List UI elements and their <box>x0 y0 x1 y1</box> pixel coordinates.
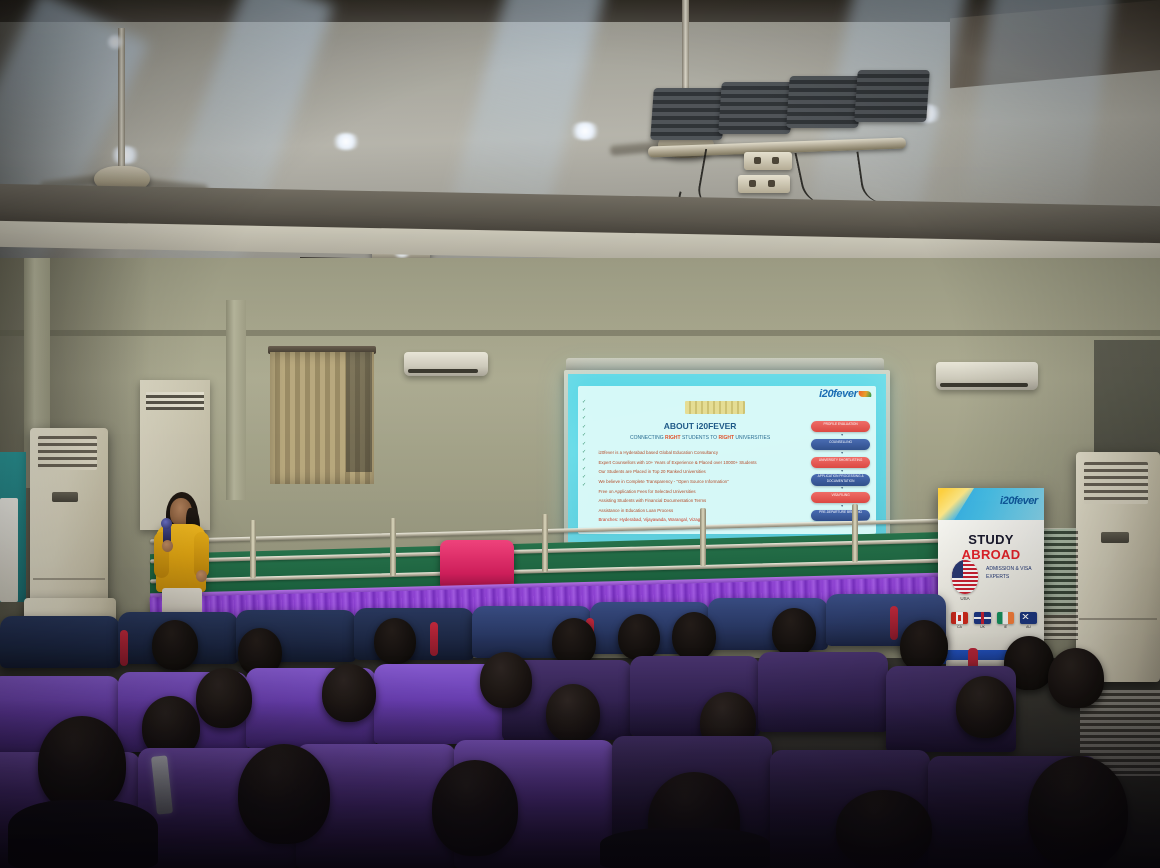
slide-flow-step: VISA FILING <box>811 492 871 503</box>
flow-arrow-icon: ▼ <box>835 451 850 455</box>
ceiling-acoustic-panel <box>786 76 862 128</box>
speaker-hand-right <box>196 570 207 582</box>
wall-ac-unit <box>404 352 488 376</box>
window-frame-right <box>1094 340 1160 460</box>
subtitle-highlight-1: RIGHT <box>665 435 681 441</box>
swoosh-icon <box>857 391 873 397</box>
lighting-junction-box <box>744 152 792 170</box>
ac-control-panel <box>52 492 78 502</box>
ac-seam <box>33 578 105 580</box>
ceiling-shadow-left <box>0 0 120 300</box>
slide-bullet: i20fever is a Hyderabad based Global Edu… <box>598 450 718 455</box>
slide-bullet: Branches: Hyderabad, Vijayawada, Waranga… <box>598 517 700 522</box>
slide-tick-column: ✓✓✓✓✓✓✓✓✓✓✓ <box>582 398 586 490</box>
microphone-head <box>161 518 172 529</box>
ac-grille <box>1084 462 1148 504</box>
ceiling-light <box>568 122 602 140</box>
slide-bullet: Free on Application Fees for Selected Un… <box>598 489 695 494</box>
wall-trim-line <box>0 330 1160 336</box>
flag-canada-label: CA <box>950 625 969 629</box>
flag-usa-icon <box>952 560 978 594</box>
flag-australia-icon <box>1020 612 1037 624</box>
audience-head <box>374 618 416 664</box>
banner-title-word-study: STUDY <box>968 532 1014 547</box>
audience-head <box>672 612 716 660</box>
slide-content: i20fever ABOUT i20FEVER CONNECTING RIGHT… <box>578 386 877 534</box>
flag-uk-icon <box>974 612 991 624</box>
tower-ac-right <box>1076 452 1160 682</box>
ac-control-panel <box>1101 532 1129 543</box>
ac-seam <box>1079 618 1156 620</box>
banner-subtitle: ADMISSION & VISA EXPERTS <box>986 566 1040 581</box>
seat-red-trim <box>890 606 898 640</box>
seat-red-trim <box>430 622 438 656</box>
slide-bullet: Our Students are Placed in Top 20 Ranked… <box>598 469 705 474</box>
audience-head <box>552 618 596 666</box>
slide-logo: i20fever <box>819 388 872 400</box>
banner-title: STUDY ABROAD <box>938 532 1044 562</box>
banner-header-accent <box>938 488 974 520</box>
ceiling-acoustic-panel <box>718 82 794 134</box>
cabinet-vent <box>146 392 204 410</box>
speaker-hand-mic <box>162 540 173 552</box>
banner-sub-line2: & VISA <box>1015 566 1031 572</box>
audience-head <box>152 620 198 670</box>
subtitle-highlight-2: RIGHT <box>718 435 734 441</box>
slide-bullet: Assisting Students with Financial Docume… <box>598 498 706 503</box>
slide-grid-decoration <box>685 401 745 414</box>
ac-grille <box>38 436 97 470</box>
slide-flow-step: PRE-DEPARTURE BRIEFING <box>811 510 871 521</box>
slide-flow-step: APPLICATION PROCESSING & DOCUMENTATION <box>811 474 871 485</box>
flag-usa-label: USA <box>952 596 978 601</box>
flow-arrow-icon: ▼ <box>835 433 850 437</box>
slide-bullet: We believe in Complete Transparency - "O… <box>598 479 728 484</box>
flow-arrow-icon: ▼ <box>835 469 850 473</box>
audience-head <box>772 608 816 656</box>
ceiling-acoustic-panel <box>854 70 930 122</box>
stage-railing-post <box>250 520 256 578</box>
banner-title-word-abroad: ABROAD <box>962 547 1021 562</box>
window-glass <box>346 352 372 472</box>
stage-railing-post <box>852 504 858 562</box>
projection-screen: i20fever ABOUT i20FEVER CONNECTING RIGHT… <box>568 374 886 542</box>
flag-australia-label: AU <box>1019 625 1038 629</box>
seat-row-far <box>0 616 120 668</box>
slide-bullet: Expert Counsellors with 10+ Years of Exp… <box>598 460 756 465</box>
lighting-junction-box <box>738 175 790 193</box>
flag-ireland-label: IE <box>996 625 1015 629</box>
banner-logo: i20fever <box>1000 495 1038 507</box>
stage-railing-post <box>700 508 706 566</box>
flow-arrow-icon: ▼ <box>835 504 850 508</box>
side-poster-white <box>0 498 18 602</box>
audience-head <box>1048 648 1104 708</box>
flow-arrow-icon: ▼ <box>835 486 850 490</box>
auditorium-photo: i20fever ABOUT i20FEVER CONNECTING RIGHT… <box>0 0 1160 868</box>
wall-pillar <box>226 300 246 500</box>
slide-title: ABOUT i20FEVER <box>601 421 798 431</box>
audience-head <box>900 620 948 672</box>
subtitle-post: UNIVERSITIES <box>734 435 770 441</box>
slide-bullet: Assistance in Education Loan Process <box>598 508 673 513</box>
slide-flow-step: UNIVERSITY SHORTLISTING <box>811 457 871 468</box>
seat-red-trim <box>120 630 128 666</box>
flag-canada-icon <box>951 612 968 624</box>
ceiling-light <box>330 133 362 150</box>
slide-flow-step: PROFILE EVALUATION <box>811 421 871 432</box>
stage-railing-post <box>390 518 396 576</box>
pink-chair <box>440 540 514 588</box>
ceiling-acoustic-panel <box>650 88 726 140</box>
banner-sub-line1: ADMISSION <box>986 566 1014 572</box>
ceiling-light <box>108 146 142 164</box>
slide-subtitle: CONNECTING RIGHT STUDENTS TO RIGHT UNIVE… <box>592 435 807 441</box>
wall-ac-unit <box>936 362 1038 390</box>
stage-railing-post <box>542 514 548 572</box>
flag-uk-label: UK <box>973 625 992 629</box>
banner-sub-line3: EXPERTS <box>986 574 1009 580</box>
subtitle-mid: STUDENTS TO <box>681 435 719 441</box>
slide-flow-step: COUNSELLING <box>811 439 871 450</box>
ceiling-fan-light <box>106 34 124 50</box>
subtitle-pre: CONNECTING <box>630 435 665 441</box>
slide-logo-text: i20fever <box>819 388 857 400</box>
audience-foreground-shadow <box>0 700 1160 868</box>
audience-head <box>618 614 660 660</box>
flag-ireland-icon <box>997 612 1014 624</box>
banner-header: i20fever <box>938 488 1044 520</box>
